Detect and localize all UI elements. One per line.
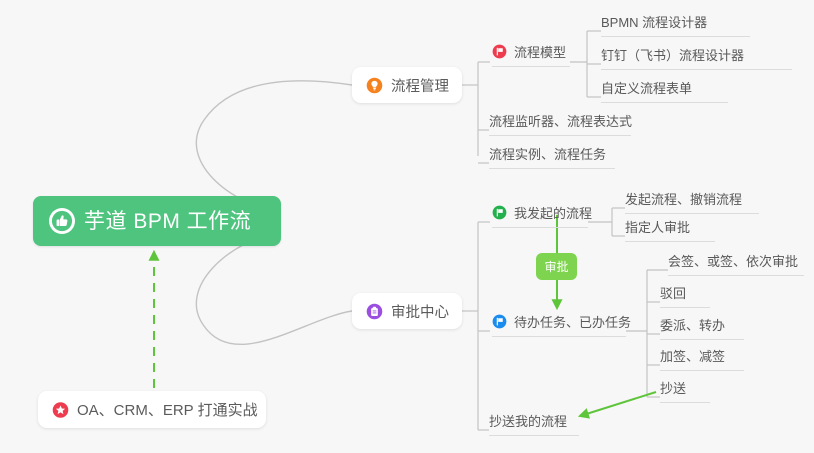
leaf-node-bpmn-designer[interactable]: BPMN 流程设计器 (601, 12, 750, 37)
leaf-node-carbon-copy[interactable]: 抄送 (660, 378, 710, 403)
flag-icon (492, 205, 507, 220)
sub-label-todo-done-task: 待办任务、已办任务 (514, 312, 631, 331)
flow-badge-label: 审批 (544, 258, 568, 275)
star-icon (52, 401, 69, 418)
sub-node-todo-done-task[interactable]: 待办任务、已办任务 (492, 312, 626, 337)
mindmap-canvas: 芋道 BPM 工作流 流程管理 流程模型 BPMN 流程设计器 钉钉（飞书）流程… (0, 0, 814, 453)
leaf-node-instance-task[interactable]: 流程实例、流程任务 (489, 144, 615, 169)
sub-node-process-model[interactable]: 流程模型 (492, 42, 570, 67)
lightbulb-pin-icon (366, 77, 383, 94)
footnote-node[interactable]: OA、CRM、ERP 打通实战 (38, 391, 266, 428)
flow-badge-approval: 审批 (536, 253, 577, 280)
leaf-node-add-remove-sign[interactable]: 加签、减签 (660, 346, 744, 371)
leaf-node-assignee-approve[interactable]: 指定人审批 (625, 217, 715, 242)
leaf-node-reject[interactable]: 驳回 (660, 283, 710, 308)
sub-label-process-model: 流程模型 (514, 42, 566, 61)
sub-label-my-started-process: 我发起的流程 (514, 203, 592, 222)
branch-node-process-management[interactable]: 流程管理 (352, 67, 462, 103)
branch-label-process-management: 流程管理 (391, 75, 449, 96)
connector-root-to-process-management (196, 81, 352, 212)
leaf-node-cc-to-me[interactable]: 抄送我的流程 (489, 411, 579, 436)
leaf-node-countersign[interactable]: 会签、或签、依次审批 (668, 251, 804, 276)
flow-arrow-cc-to-ccmine (580, 392, 656, 416)
thumbs-up-icon (49, 208, 75, 234)
leaf-node-delegate-transfer[interactable]: 委派、转办 (660, 315, 744, 340)
flag-icon (492, 314, 507, 329)
flag-icon (492, 44, 507, 59)
root-node[interactable]: 芋道 BPM 工作流 (33, 196, 281, 246)
branch-label-approval-center: 审批中心 (391, 301, 449, 322)
leaf-node-start-cancel[interactable]: 发起流程、撤销流程 (625, 189, 759, 214)
root-label: 芋道 BPM 工作流 (84, 211, 251, 232)
leaf-node-custom-form[interactable]: 自定义流程表单 (601, 78, 728, 103)
clipboard-icon (366, 303, 383, 320)
branch-node-approval-center[interactable]: 审批中心 (352, 293, 462, 329)
footnote-label: OA、CRM、ERP 打通实战 (77, 399, 258, 420)
leaf-node-dingtalk-designer[interactable]: 钉钉（飞书）流程设计器 (601, 45, 792, 70)
leaf-node-listener-expression[interactable]: 流程监听器、流程表达式 (489, 111, 631, 136)
connector-root-to-approval-center (196, 232, 352, 344)
sub-node-my-started-process[interactable]: 我发起的流程 (492, 203, 588, 228)
